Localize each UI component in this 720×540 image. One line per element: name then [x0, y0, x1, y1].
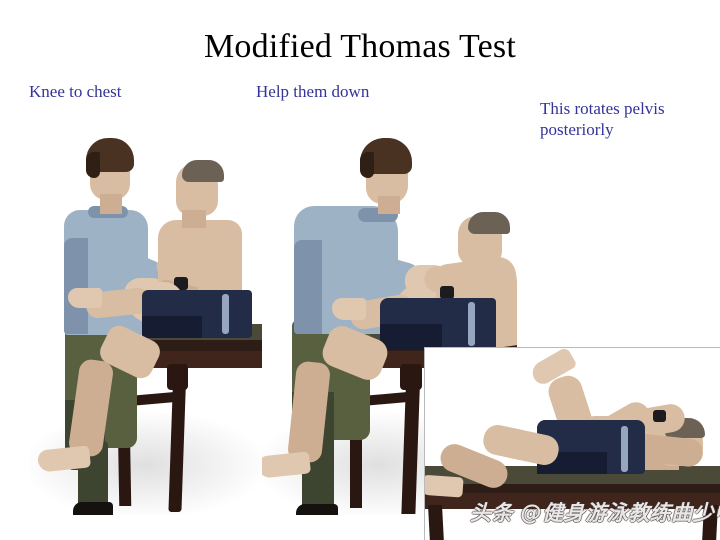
patient-hair	[468, 212, 510, 234]
watermark: 头条 @健身游泳教练曲少中	[470, 497, 720, 527]
patient-shorts-stripe	[468, 302, 475, 346]
therapist-shirt-fold	[294, 240, 322, 334]
patient-flexed-foot	[68, 288, 102, 308]
patient-shorts-shade	[142, 316, 202, 338]
therapist-neck	[100, 194, 122, 214]
patient-flexed-foot	[332, 298, 366, 320]
therapist-shoe	[73, 502, 113, 515]
therapist-hair-side	[86, 152, 100, 178]
bench-leg-left	[428, 505, 444, 540]
patient-shorts-stripe	[222, 294, 229, 334]
bench-apron	[142, 351, 275, 368]
patient-watch	[653, 410, 666, 422]
bench-leg-front-knuckle	[167, 364, 188, 390]
caption-this-rotates-pelvis-posteriorly: This rotates pelvis posteriorly	[540, 98, 690, 140]
patient-extended-foot	[424, 474, 464, 497]
bench-leg-front-knuckle	[400, 364, 422, 390]
slide: Modified Thomas Test Knee to chest Help …	[0, 0, 720, 540]
therapist-hair-side	[360, 152, 374, 178]
therapist-shirt-fold	[64, 238, 88, 334]
caption-knee-to-chest: Knee to chest	[29, 81, 229, 102]
patient-hair	[182, 160, 224, 182]
photo-knee-to-chest	[30, 110, 275, 515]
therapist-shoe	[296, 504, 338, 515]
page-title: Modified Thomas Test	[0, 26, 720, 68]
patient-shorts-stripe	[621, 426, 628, 472]
therapist-neck	[378, 196, 400, 214]
patient-neck	[182, 210, 206, 228]
caption-help-them-down: Help them down	[256, 81, 376, 102]
